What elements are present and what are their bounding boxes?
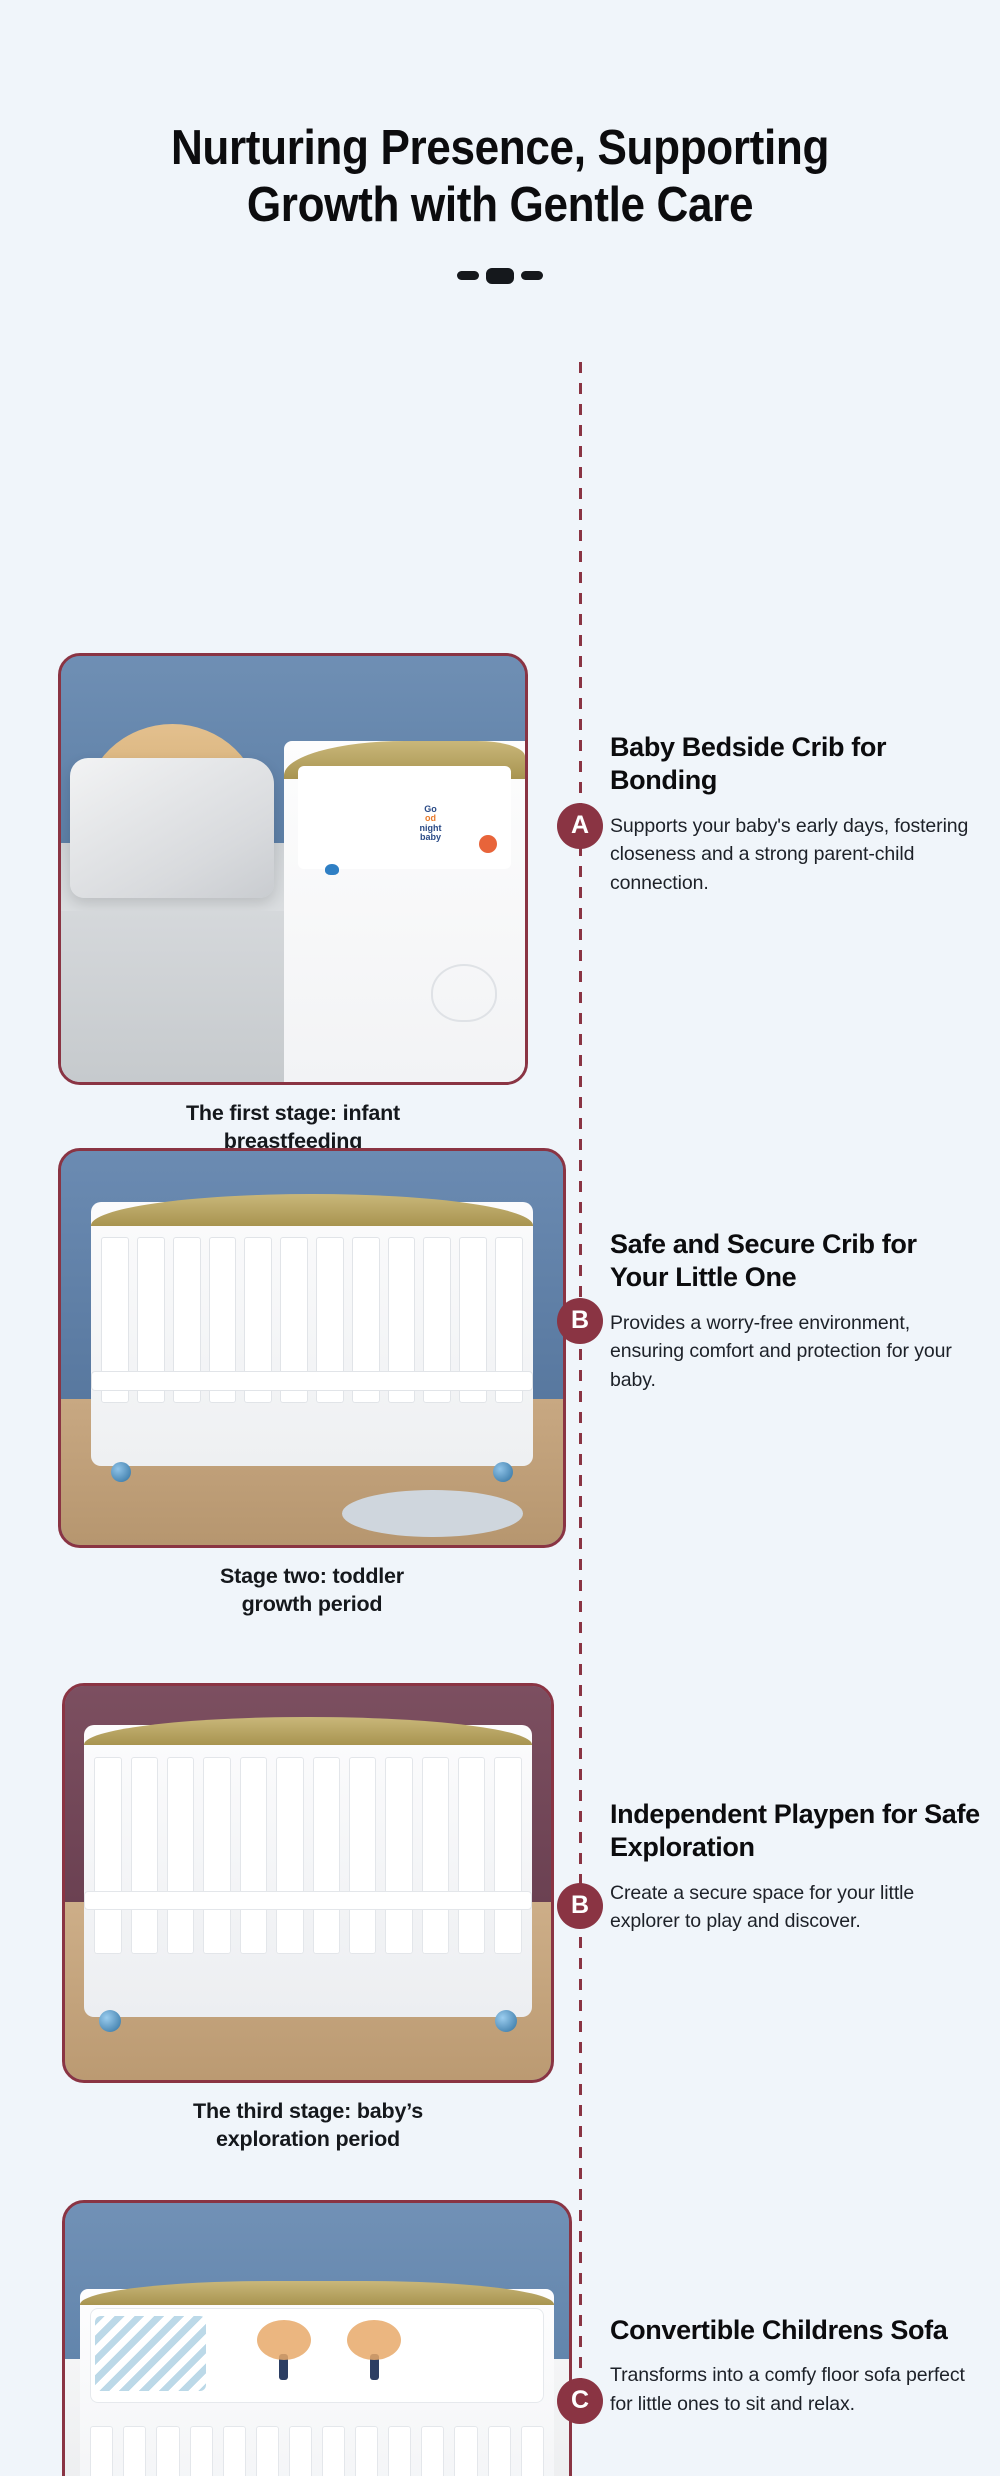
crib-rail (91, 1371, 533, 1391)
crib-bumper-panel (298, 766, 511, 868)
stage-1-badge: A (557, 803, 603, 849)
stage-2-badge: B (557, 1298, 603, 1344)
decorative-divider-icon (0, 264, 1000, 288)
stage-2-body: Provides a worry-free environment, ensur… (610, 1309, 970, 1395)
stage-3-badge: B (557, 1883, 603, 1929)
stage-4-text-column: Convertible Childrens Sofa Transforms in… (610, 2314, 988, 2419)
stage-1-photo-column: Goodnightbaby The first stage: infant br… (58, 653, 528, 1156)
crib-wheel-left-icon (111, 1462, 131, 1482)
stage-3-text-column: Independent Playpen for Safe Exploration… (610, 1798, 985, 1936)
stage-2-photo (58, 1148, 566, 1548)
stage-2-text-column: Safe and Secure Crib for Your Little One… (610, 1228, 970, 1395)
page-title-line-2: Growth with Gentle Care (50, 177, 950, 234)
divider-left-bar (457, 271, 479, 280)
divider-center-core (483, 265, 517, 287)
floor-rug (342, 1490, 523, 1537)
stage-1-caption-line-1: The first stage: infant (58, 1099, 528, 1127)
stage-1-photo: Goodnightbaby (58, 653, 528, 1085)
bear-outline-motif-icon (431, 964, 497, 1022)
stage-3-caption: The third stage: baby’s exploration peri… (62, 2097, 554, 2154)
page-header: Nurturing Presence, Supporting Growth wi… (0, 0, 1000, 288)
stage-4-heading: Convertible Childrens Sofa (610, 2314, 988, 2347)
infographic-page: Nurturing Presence, Supporting Growth wi… (0, 0, 1000, 2476)
stage-3-caption-line-1: The third stage: baby’s (62, 2097, 554, 2125)
stage-2-caption-line-2: growth period (58, 1590, 566, 1618)
crib-wheel-right-icon (493, 1462, 513, 1482)
stage-3-photo-column: The third stage: baby’s exploration peri… (62, 1683, 554, 2154)
stage-1-heading: Baby Bedside Crib for Bonding (610, 731, 970, 798)
stage-3-heading: Independent Playpen for Safe Exploration (610, 1798, 985, 1865)
stage-1-body: Supports your baby's early days, fosteri… (610, 812, 970, 898)
playpen-rail (84, 1891, 531, 1911)
sofa-slats (90, 2426, 544, 2476)
page-title-line-1: Nurturing Presence, Supporting (50, 120, 950, 177)
stage-3-photo (62, 1683, 554, 2083)
stage-1-text-column: Baby Bedside Crib for Bonding Supports y… (610, 731, 970, 898)
stage-2-caption-line-1: Stage two: toddler (58, 1562, 566, 1590)
tree-motif-right-icon (347, 2320, 401, 2382)
stage-4-photo (62, 2200, 572, 2476)
stage-3-body: Create a secure space for your little ex… (610, 1879, 985, 1936)
stage-4-photo-column: The fourth stage: children are active (62, 2200, 572, 2476)
stage-3-caption-line-2: exploration period (62, 2125, 554, 2153)
page-title: Nurturing Presence, Supporting Growth wi… (50, 120, 950, 234)
adult-pillow (70, 758, 274, 899)
divider-right-bar (521, 271, 543, 280)
orange-bird-motif-icon (479, 835, 497, 853)
stage-4-badge: C (557, 2378, 603, 2424)
tree-motif-left-icon (257, 2320, 311, 2382)
crib-panel-text: Goodnightbaby (419, 805, 441, 843)
stage-4-body: Transforms into a comfy floor sofa perfe… (610, 2361, 988, 2418)
stage-2-heading: Safe and Secure Crib for Your Little One (610, 1228, 970, 1295)
striped-cushion (95, 2316, 206, 2390)
playpen-bars (94, 1757, 522, 1954)
blue-bird-motif-icon (325, 864, 339, 875)
stage-2-photo-column: Stage two: toddler growth period (58, 1148, 566, 1619)
timeline-dashed-line (579, 362, 582, 2402)
stage-2-caption: Stage two: toddler growth period (58, 1562, 566, 1619)
